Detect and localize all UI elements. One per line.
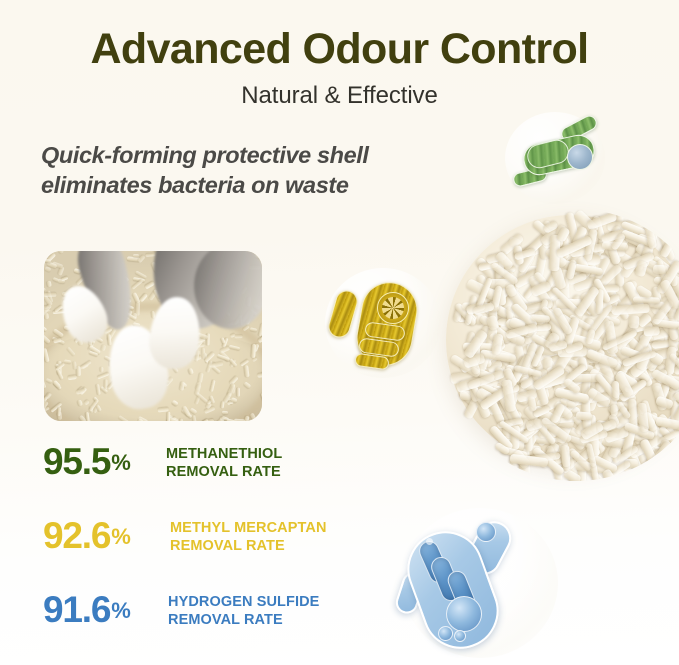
blue-highlight-speck xyxy=(426,538,433,545)
page-title: Advanced Odour Control xyxy=(0,27,679,72)
green-bacteria-illustration xyxy=(505,112,605,204)
product-feature-poster: Advanced Odour Control Natural & Effecti… xyxy=(0,0,679,665)
blue-sphere-small-2 xyxy=(454,630,466,642)
mound-pellet-texture xyxy=(440,209,679,481)
percent-sign: % xyxy=(111,598,130,623)
stat-value-hydrogen-sulfide: 91.6% xyxy=(43,591,130,628)
stat-row-methanethiol: 95.5% METHANETHIOL REMOVAL RATE xyxy=(40,441,370,515)
photo-content xyxy=(44,251,262,421)
odour-removal-stats: 95.5% METHANETHIOL REMOVAL RATE 92.6% ME… xyxy=(40,441,370,663)
stat-label-hydrogen-sulfide: HYDROGEN SULFIDE REMOVAL RATE xyxy=(168,593,319,630)
blue-sphere-large xyxy=(446,596,482,632)
percent-sign: % xyxy=(111,450,130,475)
stat-value-methyl-mercaptan: 92.6% xyxy=(43,517,130,554)
stat-label-methanethiol: METHANETHIOL REMOVAL RATE xyxy=(166,445,282,482)
page-subtitle: Natural & Effective xyxy=(0,83,679,109)
blue-dot-top xyxy=(476,522,496,542)
stat-row-hydrogen-sulfide: 91.6% HYDROGEN SULFIDE REMOVAL RATE xyxy=(40,589,370,663)
yellow-bacteria-core xyxy=(377,292,409,324)
blue-bacteria-illustration xyxy=(402,508,558,658)
green-bacteria-nucleus xyxy=(567,144,593,170)
cat-paws-photo xyxy=(44,251,262,421)
stat-number: 91.6 xyxy=(43,589,110,630)
blue-sphere-small-1 xyxy=(438,626,453,641)
stat-value-methanethiol: 95.5% xyxy=(43,443,130,480)
stat-label-methyl-mercaptan: METHYL MERCAPTAN REMOVAL RATE xyxy=(170,519,327,556)
stat-number: 92.6 xyxy=(43,515,110,556)
yellow-bacteria-illustration xyxy=(325,268,441,378)
percent-sign: % xyxy=(111,524,130,549)
tofu-litter-mound xyxy=(446,215,679,480)
feature-tagline: Quick-forming protective shell eliminate… xyxy=(41,140,401,201)
stat-row-methyl-mercaptan: 92.6% METHYL MERCAPTAN REMOVAL RATE xyxy=(40,515,370,589)
stat-number: 95.5 xyxy=(43,441,110,482)
